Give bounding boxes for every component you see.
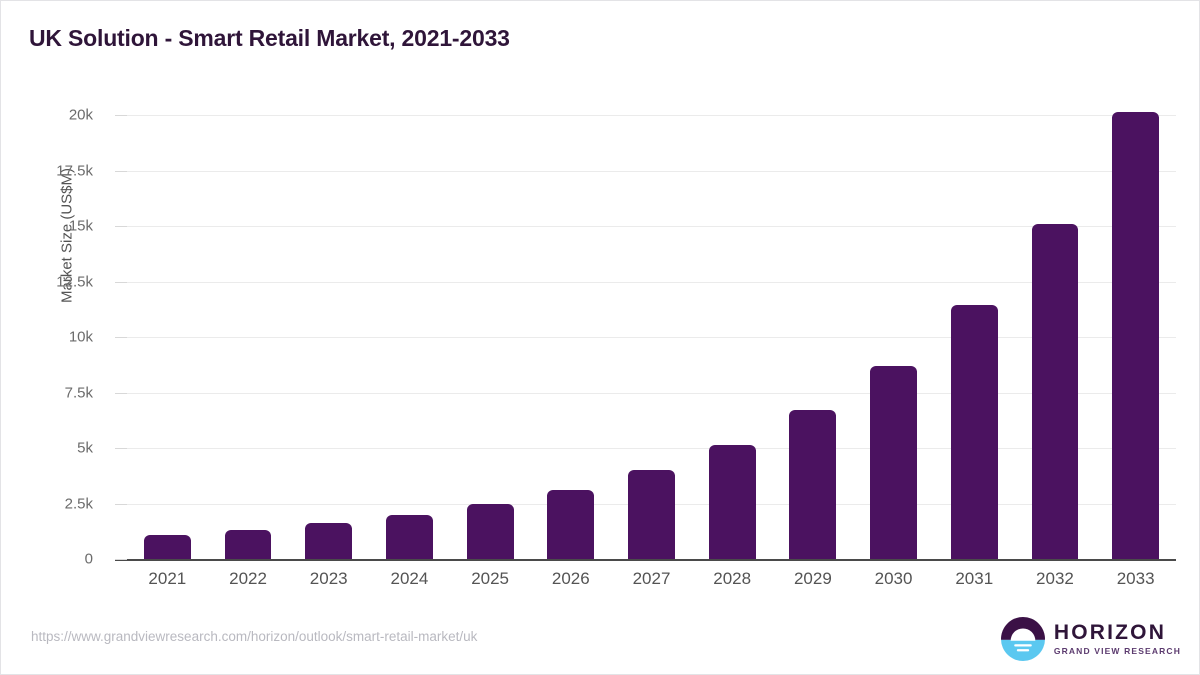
- bar[interactable]: [1032, 224, 1079, 559]
- y-tick-label: 7.5k: [1, 384, 115, 401]
- bar-group[interactable]: [951, 109, 998, 559]
- y-tick-mark: [115, 559, 127, 560]
- y-tick-label: 0: [1, 551, 115, 568]
- y-tick-label: 20k: [1, 107, 115, 124]
- bar[interactable]: [870, 366, 917, 559]
- bar-group[interactable]: [628, 109, 675, 559]
- y-tick-mark: [115, 171, 127, 172]
- y-tick-label: 5k: [1, 440, 115, 457]
- chart-page: UK Solution - Smart Retail Market, 2021-…: [0, 0, 1200, 675]
- x-tick-label: 2033: [1117, 569, 1155, 589]
- source-url[interactable]: https://www.grandviewresearch.com/horizo…: [31, 629, 477, 644]
- x-tick-label: 2028: [713, 569, 751, 589]
- x-tick-label: 2029: [794, 569, 832, 589]
- bar-group[interactable]: [709, 109, 756, 559]
- bar-group[interactable]: [547, 109, 594, 559]
- bar[interactable]: [467, 504, 514, 559]
- bar-series: [127, 109, 1176, 559]
- bar-group[interactable]: [225, 109, 272, 559]
- x-axis-line: [115, 559, 1176, 561]
- logo-text: HORIZON GRAND VIEW RESEARCH: [1054, 622, 1181, 656]
- x-tick-label: 2024: [391, 569, 429, 589]
- x-axis-tick-labels: 2021202220232024202520262027202820292030…: [127, 569, 1176, 599]
- y-tick-label: 12.5k: [1, 273, 115, 290]
- bar-group[interactable]: [467, 109, 514, 559]
- bar[interactable]: [386, 515, 433, 559]
- bar[interactable]: [951, 305, 998, 559]
- x-tick-label: 2023: [310, 569, 348, 589]
- bar[interactable]: [709, 445, 756, 559]
- y-tick-label: 15k: [1, 218, 115, 235]
- x-tick-label: 2025: [471, 569, 509, 589]
- bar-group[interactable]: [789, 109, 836, 559]
- x-tick-label: 2031: [955, 569, 993, 589]
- bar[interactable]: [144, 535, 191, 559]
- y-tick-label: 17.5k: [1, 162, 115, 179]
- horizon-logo-icon: [1001, 617, 1045, 661]
- bar-group[interactable]: [305, 109, 352, 559]
- y-tick-label: 2.5k: [1, 495, 115, 512]
- x-tick-label: 2022: [229, 569, 267, 589]
- bar-group[interactable]: [144, 109, 191, 559]
- y-axis-tick-labels: 02.5k5k7.5k10k12.5k15k17.5k20k: [1, 1, 115, 675]
- x-tick-label: 2026: [552, 569, 590, 589]
- x-tick-label: 2021: [148, 569, 186, 589]
- y-tick-mark: [115, 282, 127, 283]
- y-tick-mark: [115, 504, 127, 505]
- bar[interactable]: [1112, 112, 1159, 559]
- x-tick-label: 2027: [633, 569, 671, 589]
- y-tick-mark: [115, 115, 127, 116]
- logo-tagline: GRAND VIEW RESEARCH: [1054, 646, 1181, 656]
- bar-group[interactable]: [386, 109, 433, 559]
- bar[interactable]: [305, 523, 352, 559]
- bar-group[interactable]: [1032, 109, 1079, 559]
- bar[interactable]: [547, 490, 594, 559]
- bar[interactable]: [628, 470, 675, 559]
- y-tick-mark: [115, 226, 127, 227]
- y-tick-mark: [115, 337, 127, 338]
- y-tick-mark: [115, 393, 127, 394]
- bar[interactable]: [789, 410, 836, 559]
- logo-wordmark: HORIZON: [1054, 622, 1181, 644]
- x-tick-label: 2032: [1036, 569, 1074, 589]
- y-tick-label: 10k: [1, 329, 115, 346]
- bar-group[interactable]: [870, 109, 917, 559]
- bar[interactable]: [225, 530, 272, 559]
- horizon-logo: HORIZON GRAND VIEW RESEARCH: [1001, 616, 1181, 662]
- x-tick-label: 2030: [875, 569, 913, 589]
- bar-group[interactable]: [1112, 109, 1159, 559]
- plot-area: [127, 109, 1176, 559]
- y-tick-mark: [115, 448, 127, 449]
